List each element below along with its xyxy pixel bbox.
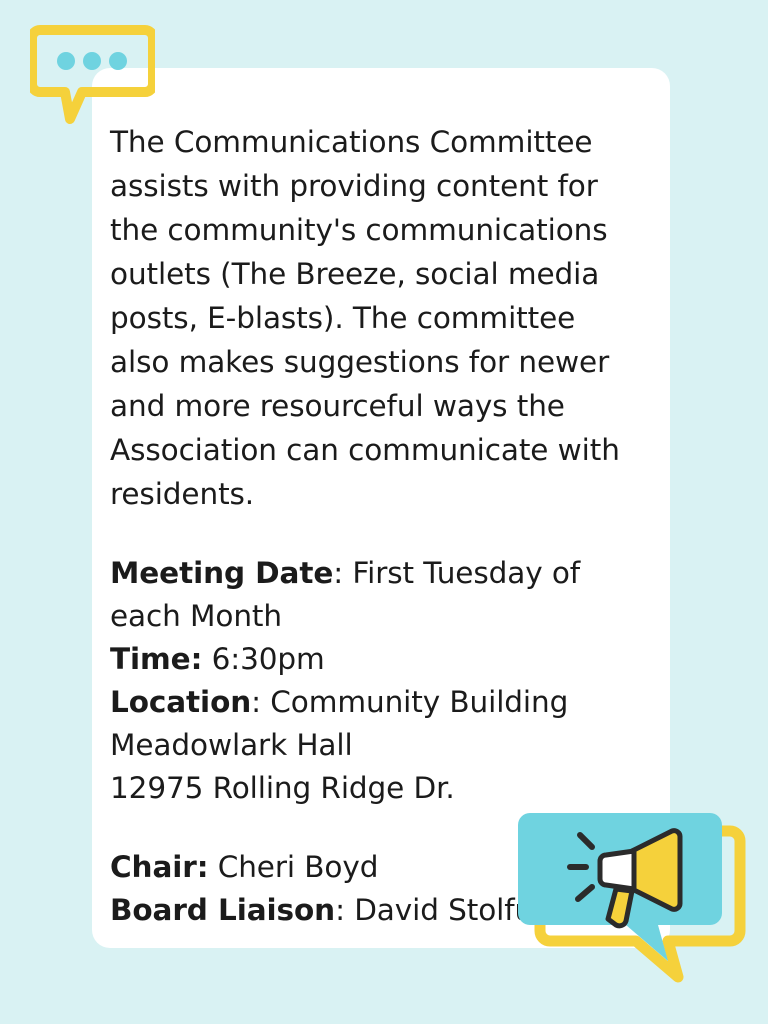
detail-label: Location <box>110 685 251 719</box>
speech-bubble-icon <box>30 22 155 127</box>
committee-description: The Communications Committee assists wit… <box>110 120 626 516</box>
spacer <box>110 516 626 552</box>
detail-label: Meeting Date <box>110 556 333 590</box>
megaphone-icon <box>518 791 768 1006</box>
detail-separator: : <box>333 556 352 590</box>
detail-time: Time: 6:30pm <box>110 638 626 681</box>
person-value: Cheri Boyd <box>218 850 379 884</box>
person-separator <box>208 850 217 884</box>
page-root: The Communications Committee assists wit… <box>0 0 768 1024</box>
person-label: Board Liaison <box>110 893 335 927</box>
detail-separator <box>202 642 211 676</box>
detail-value: 6:30pm <box>212 642 325 676</box>
person-separator: : <box>335 893 354 927</box>
detail-location: Location: Community Building Meadowlark … <box>110 681 626 767</box>
person-label: Chair: <box>110 850 208 884</box>
detail-separator: : <box>251 685 270 719</box>
detail-meeting-date: Meeting Date: First Tuesday of each Mont… <box>110 552 626 638</box>
detail-label: Time: <box>110 642 202 676</box>
detail-value: 12975 Rolling Ridge Dr. <box>110 771 455 805</box>
